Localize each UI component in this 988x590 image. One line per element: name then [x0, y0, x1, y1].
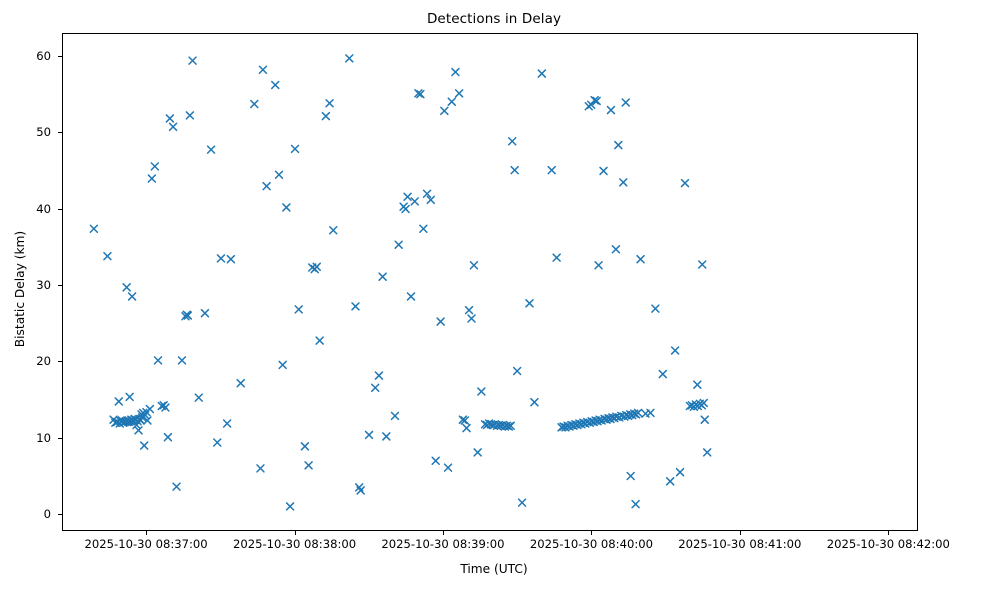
- scatter-point: [375, 372, 382, 379]
- scatter-point: [468, 315, 475, 322]
- scatter-point: [178, 357, 185, 364]
- scatter-layer: [63, 34, 917, 530]
- scatter-point: [395, 241, 402, 248]
- x-tick-label: 2025-10-30 08:42:00: [827, 537, 950, 551]
- scatter-point: [538, 70, 545, 77]
- scatter-point: [313, 263, 320, 270]
- scatter-point: [90, 225, 97, 232]
- scatter-point: [667, 478, 674, 485]
- scatter-point: [126, 393, 133, 400]
- scatter-point: [123, 284, 130, 291]
- scatter-point: [259, 66, 266, 73]
- scatter-point: [148, 175, 155, 182]
- scatter-point: [632, 501, 639, 508]
- scatter-point: [553, 254, 560, 261]
- scatter-point: [170, 123, 177, 130]
- scatter-point: [441, 107, 448, 114]
- scatter-point: [474, 449, 481, 456]
- scatter-point: [115, 398, 122, 405]
- scatter-point: [379, 273, 386, 280]
- y-tick-label: 10: [0, 431, 51, 445]
- matplotlib-figure: Detections in Delay Time (UTC) Bistatic …: [0, 0, 988, 590]
- scatter-point: [615, 142, 622, 149]
- scatter-point: [263, 183, 270, 190]
- x-tick-label: 2025-10-30 08:37:00: [85, 537, 208, 551]
- scatter-point: [352, 303, 359, 310]
- scatter-point: [372, 384, 379, 391]
- plot-axes: [62, 33, 918, 531]
- y-tick-label: 50: [0, 125, 51, 139]
- scatter-point: [509, 138, 516, 145]
- scatter-point: [292, 145, 299, 152]
- scatter-point: [227, 256, 234, 263]
- scatter-point: [402, 205, 409, 212]
- scatter-point: [672, 347, 679, 354]
- scatter-point: [420, 225, 427, 232]
- scatter-point: [445, 464, 452, 471]
- scatter-point: [391, 412, 398, 419]
- y-tick-label: 40: [0, 202, 51, 216]
- scatter-point: [279, 361, 286, 368]
- scatter-point: [659, 371, 666, 378]
- scatter-point: [478, 388, 485, 395]
- y-tick-mark: [58, 514, 62, 515]
- x-tick-label: 2025-10-30 08:39:00: [381, 537, 504, 551]
- scatter-point: [681, 180, 688, 187]
- scatter-point: [701, 416, 708, 423]
- scatter-point: [305, 462, 312, 469]
- scatter-point: [652, 305, 659, 312]
- scatter-point: [466, 307, 473, 314]
- x-tick-label: 2025-10-30 08:40:00: [530, 537, 653, 551]
- scatter-point: [514, 368, 521, 375]
- scatter-point: [164, 434, 171, 441]
- scatter-point: [437, 318, 444, 325]
- scatter-point: [404, 193, 411, 200]
- scatter-point: [694, 381, 701, 388]
- x-tick-mark: [888, 531, 889, 535]
- scatter-point: [189, 57, 196, 64]
- scatter-point: [627, 473, 634, 480]
- x-tick-mark: [146, 531, 147, 535]
- scatter-point: [287, 503, 294, 510]
- scatter-point: [301, 443, 308, 450]
- scatter-point: [548, 167, 555, 174]
- scatter-point: [272, 81, 279, 88]
- scatter-point: [677, 469, 684, 476]
- scatter-point: [456, 90, 463, 97]
- scatter-point: [155, 357, 162, 364]
- scatter-point: [408, 293, 415, 300]
- scatter-point: [208, 146, 215, 153]
- x-tick-label: 2025-10-30 08:41:00: [678, 537, 801, 551]
- y-tick-mark: [58, 56, 62, 57]
- scatter-point: [166, 115, 173, 122]
- scatter-point: [237, 380, 244, 387]
- scatter-point: [448, 98, 455, 105]
- scatter-point: [383, 433, 390, 440]
- scatter-point: [330, 227, 337, 234]
- chart-title: Detections in Delay: [0, 11, 988, 27]
- scatter-point: [326, 100, 333, 107]
- scatter-point: [129, 293, 136, 300]
- y-tick-mark: [58, 132, 62, 133]
- scatter-point: [411, 198, 418, 205]
- y-tick-label: 0: [0, 507, 51, 521]
- scatter-point: [201, 310, 208, 317]
- scatter-point: [637, 256, 644, 263]
- scatter-point: [257, 465, 264, 472]
- scatter-point: [214, 439, 221, 446]
- x-tick-mark: [443, 531, 444, 535]
- scatter-point: [146, 406, 153, 413]
- scatter-point: [346, 55, 353, 62]
- y-tick-mark: [58, 285, 62, 286]
- y-tick-label: 60: [0, 49, 51, 63]
- scatter-point: [217, 255, 224, 262]
- scatter-point: [452, 69, 459, 76]
- scatter-point: [151, 163, 158, 170]
- scatter-point: [607, 107, 614, 114]
- scatter-point: [612, 246, 619, 253]
- scatter-point: [104, 253, 111, 260]
- scatter-point: [186, 112, 193, 119]
- y-tick-mark: [58, 209, 62, 210]
- scatter-point: [531, 399, 538, 406]
- y-tick-label: 20: [0, 354, 51, 368]
- scatter-point: [195, 394, 202, 401]
- x-tick-mark: [591, 531, 592, 535]
- y-tick-mark: [58, 438, 62, 439]
- x-tick-label: 2025-10-30 08:38:00: [233, 537, 356, 551]
- scatter-point: [600, 167, 607, 174]
- scatter-point: [295, 306, 302, 313]
- scatter-point: [275, 171, 282, 178]
- scatter-point: [511, 167, 518, 174]
- scatter-point: [622, 99, 629, 106]
- scatter-point: [283, 204, 290, 211]
- scatter-point: [141, 442, 148, 449]
- x-tick-mark: [295, 531, 296, 535]
- scatter-point: [366, 431, 373, 438]
- scatter-point: [595, 262, 602, 269]
- scatter-point: [704, 449, 711, 456]
- scatter-point: [224, 420, 231, 427]
- scatter-point: [647, 409, 654, 416]
- x-tick-mark: [740, 531, 741, 535]
- scatter-point: [470, 262, 477, 269]
- y-tick-mark: [58, 361, 62, 362]
- scatter-point: [322, 113, 329, 120]
- x-axis-label: Time (UTC): [0, 562, 988, 576]
- scatter-point: [519, 499, 526, 506]
- scatter-point: [316, 337, 323, 344]
- scatter-point: [526, 300, 533, 307]
- y-tick-label: 30: [0, 278, 51, 292]
- scatter-point: [699, 261, 706, 268]
- scatter-point: [432, 457, 439, 464]
- scatter-point: [620, 179, 627, 186]
- scatter-point: [173, 483, 180, 490]
- scatter-point: [251, 101, 258, 108]
- scatter-point: [463, 425, 470, 432]
